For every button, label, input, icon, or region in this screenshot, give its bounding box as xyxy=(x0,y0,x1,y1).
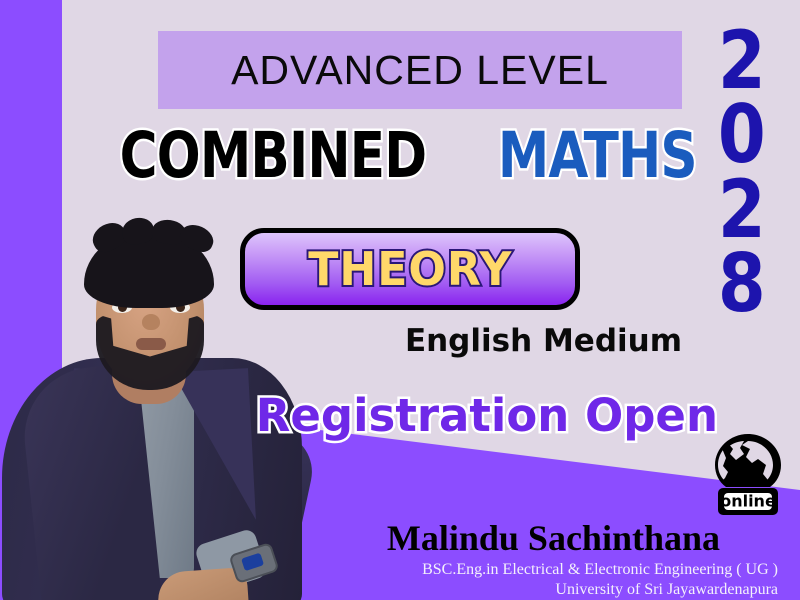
subject-word-combined: COMBINED xyxy=(119,124,426,187)
subject-word-maths: MATHS xyxy=(498,124,697,187)
year-digit: 2 xyxy=(718,173,766,247)
online-badge-label: online xyxy=(720,492,776,511)
subject-headline: COMBINED MATHS xyxy=(92,114,712,196)
registration-status-text: Registration Open xyxy=(256,389,718,442)
tutor-name: Malindu Sachinthana xyxy=(240,518,720,558)
year-digit: 2 xyxy=(718,24,766,98)
theory-button[interactable]: THEORY xyxy=(240,228,580,310)
year-stack: 2 0 2 8 xyxy=(706,24,778,322)
advanced-level-label: ADVANCED LEVEL xyxy=(158,31,682,109)
tutor-photo-mouth xyxy=(136,338,166,350)
online-badge: online xyxy=(700,432,796,516)
year-digit: 8 xyxy=(718,247,766,321)
tutor-credentials-line-2: University of Sri Jayawardenapura xyxy=(240,580,778,600)
theory-button-label: THEORY xyxy=(308,242,512,296)
tutor-credentials: BSC.Eng.in Electrical & Electronic Engin… xyxy=(240,560,778,599)
globe-icon: online xyxy=(700,432,796,516)
tutor-credentials-line-1: BSC.Eng.in Electrical & Electronic Engin… xyxy=(240,560,778,580)
registration-status: Registration Open xyxy=(250,388,718,442)
medium-label: English Medium xyxy=(300,320,682,362)
tutor-photo-nose xyxy=(142,314,160,330)
course-promo-poster: ADVANCED LEVEL COMBINED MATHS THEORY Eng… xyxy=(0,0,800,600)
tutor-photo-lapel-right xyxy=(172,368,256,524)
year-digit: 0 xyxy=(718,98,766,172)
